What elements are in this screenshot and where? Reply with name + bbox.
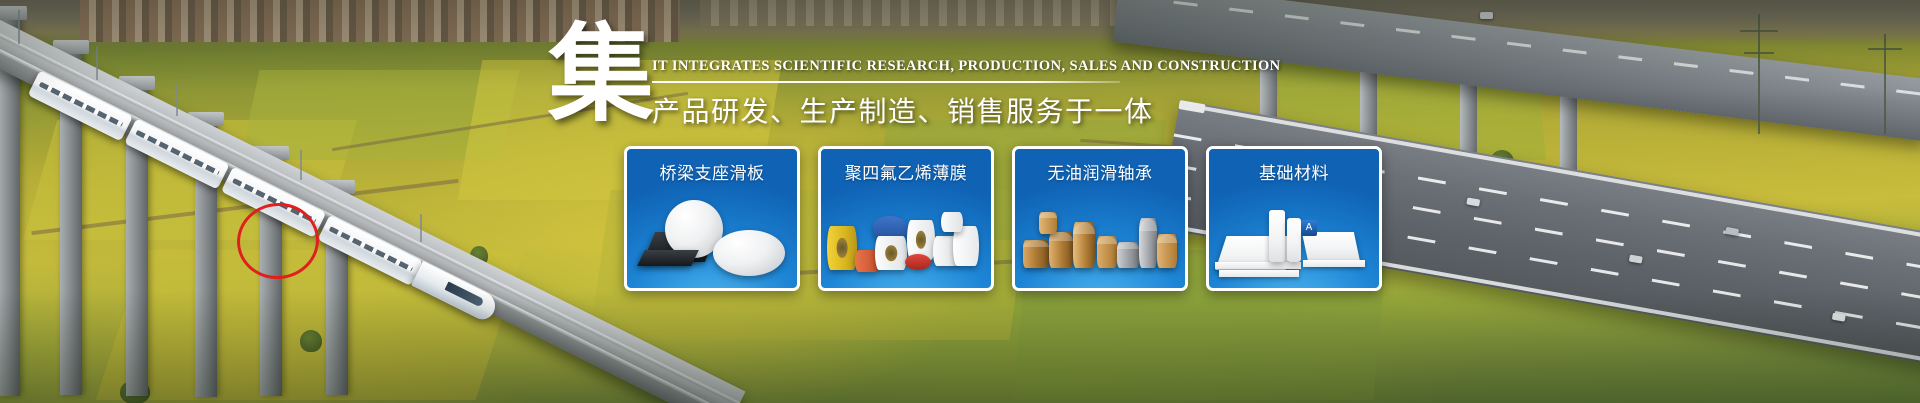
steel-bushing — [1117, 242, 1139, 268]
vehicle — [1629, 254, 1643, 263]
product-image-slide-plates — [627, 192, 797, 288]
ring-red — [905, 254, 931, 270]
catenary-mast — [420, 214, 422, 242]
bronze-bushing — [1073, 222, 1095, 268]
power-pylon-arm — [1740, 30, 1778, 32]
vehicle — [1832, 313, 1846, 322]
product-image-base-materials: A — [1209, 192, 1379, 288]
bronze-bushing — [1157, 234, 1177, 268]
material-sheet — [1219, 270, 1299, 277]
product-card-title: 无油润滑轴承 — [1015, 159, 1185, 184]
steel-bushing — [1139, 218, 1157, 268]
product-card-ptfe-film[interactable]: 聚四氟乙烯薄膜 — [818, 146, 994, 291]
catenary-mast — [176, 84, 178, 116]
bronze-bushing — [1097, 236, 1117, 268]
power-pylon-arm — [1744, 52, 1774, 54]
tape-roll-white — [875, 236, 907, 270]
catenary-mast — [300, 150, 302, 180]
bronze-bushing — [1049, 232, 1073, 268]
material-rod — [1287, 218, 1301, 262]
material-sheet — [1215, 262, 1301, 269]
catenary-mast — [96, 46, 98, 80]
headline-text-group: IT INTEGRATES SCIENTIFIC RESEARCH, PRODU… — [652, 58, 1152, 130]
material-badge: A — [1301, 220, 1317, 236]
material-rod — [1269, 210, 1285, 262]
power-pylon-arm — [1868, 48, 1902, 50]
product-card-title: 桥梁支座滑板 — [627, 159, 797, 184]
english-tagline: IT INTEGRATES SCIENTIFIC RESEARCH, PRODU… — [652, 58, 1152, 75]
vehicle — [1725, 227, 1739, 236]
product-card-bridge-bearing-slide-plate[interactable]: 桥梁支座滑板 — [624, 146, 800, 291]
product-image-ptfe-rolls — [821, 192, 991, 288]
vehicle — [1466, 197, 1480, 206]
tape-roll-yellow — [827, 226, 857, 270]
vehicle — [1480, 12, 1493, 19]
bronze-bushing — [1023, 240, 1049, 268]
material-block — [1302, 232, 1360, 262]
tape-roll-white — [941, 212, 963, 232]
roll-core — [885, 245, 897, 261]
product-card-title: 聚四氟乙烯薄膜 — [821, 159, 991, 184]
power-pylon — [1758, 14, 1760, 134]
slide-plate-base — [637, 250, 699, 266]
chinese-subtitle: 产品研发、生产制造、销售服务于一体 — [652, 90, 1152, 130]
tape-roll-white — [953, 226, 979, 266]
headline-block: 集 IT INTEGRATES SCIENTIFIC RESEARCH, PRO… — [548, 22, 1148, 142]
headline-big-character: 集 — [548, 22, 654, 128]
product-image-bronze-bushings — [1015, 192, 1185, 288]
catenary-mast — [18, 10, 20, 44]
product-card-title: 基础材料 — [1209, 159, 1379, 184]
material-sheet — [1303, 260, 1365, 267]
roll-core — [837, 238, 848, 258]
hero-banner: 集 IT INTEGRATES SCIENTIFIC RESEARCH, PRO… — [0, 0, 1920, 403]
product-card-base-material[interactable]: 基础材料 A — [1206, 146, 1382, 291]
slide-plate-disc — [713, 230, 785, 276]
roll-core — [916, 231, 926, 249]
bronze-bushing — [1039, 212, 1057, 234]
product-card-row: 桥梁支座滑板 聚四氟乙烯薄膜 — [624, 146, 1382, 291]
product-card-oilless-bearing[interactable]: 无油润滑轴承 — [1012, 146, 1188, 291]
headline-divider — [652, 81, 1120, 83]
